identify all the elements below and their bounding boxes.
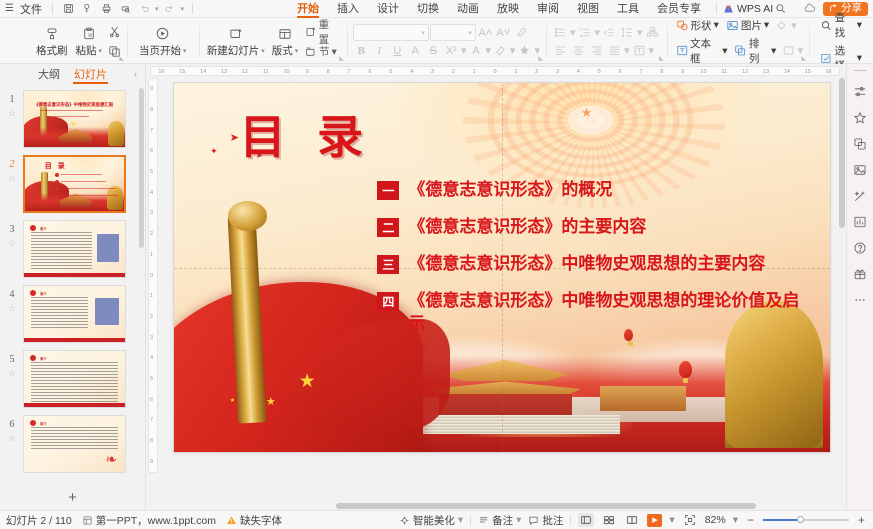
- add-slide-button[interactable]: +: [0, 484, 145, 510]
- ruler-tick-label: 1: [514, 69, 517, 75]
- thumb-title: 简介: [40, 421, 46, 426]
- navigator-tabs: 大纲 幻灯片 ‹: [0, 64, 145, 86]
- chevron-down-icon[interactable]: ▾: [570, 26, 576, 39]
- canvas-hscroll-area: [146, 501, 846, 510]
- ruler-tick-label: 12: [742, 69, 748, 75]
- image-library-icon[interactable]: [852, 161, 869, 178]
- tab-start[interactable]: 开始: [288, 0, 328, 18]
- chevron-down-icon: ▾: [771, 45, 776, 57]
- toc-text: 《德意志意识形态》中唯物史观思想的主要内容: [408, 253, 765, 276]
- slide-thumbnail-6[interactable]: 简介 ❧: [23, 415, 126, 473]
- navigator-scrollbar[interactable]: [139, 88, 144, 248]
- arrange-label: 排列: [749, 36, 769, 66]
- play-icon[interactable]: ▶: [647, 514, 662, 527]
- chevron-down-icon: ▾: [516, 514, 521, 526]
- ruler-tick-label: 3: [431, 69, 434, 75]
- notes-icon: [478, 515, 489, 526]
- print-search-icon[interactable]: [118, 1, 133, 16]
- new-slide-button[interactable]: 新建幻灯片▾: [204, 20, 268, 63]
- superscript-button[interactable]: X²: [443, 42, 460, 59]
- source-text: 第一PPT，www.1ppt.com: [96, 513, 216, 528]
- forbidden-city-gate: [430, 360, 581, 423]
- tab-design[interactable]: 设计: [368, 0, 408, 18]
- thumb-title: 简介: [40, 226, 46, 231]
- template-source[interactable]: 第一PPT，www.1ppt.com: [82, 513, 216, 528]
- bold-button[interactable]: B: [353, 42, 370, 59]
- toc-item-3[interactable]: 三 《德意志意识形态》中唯物史观思想的主要内容: [377, 253, 810, 276]
- format-painter-button[interactable]: 格式刷: [32, 20, 72, 63]
- ruler-tick-label: 2: [150, 231, 153, 237]
- chevron-left-icon[interactable]: ‹: [134, 69, 137, 79]
- gift-icon[interactable]: [852, 265, 869, 282]
- ruler-tick-label: 15: [805, 69, 811, 75]
- strikethrough-button[interactable]: S: [425, 42, 442, 59]
- redo-dropdown-icon[interactable]: ▾: [180, 5, 184, 13]
- tab-animation[interactable]: 动画: [448, 0, 488, 18]
- slide-thumbnail-3[interactable]: 简介: [23, 220, 126, 278]
- smartart-icon[interactable]: [644, 24, 661, 41]
- view-normal-icon[interactable]: [578, 513, 594, 527]
- slides-dialog-launcher[interactable]: ◣: [339, 55, 344, 62]
- gold-star-large: ★: [299, 370, 316, 393]
- comment-icon: [528, 515, 539, 526]
- ruler-tick-label: 5: [598, 69, 601, 75]
- warning-icon: [226, 515, 237, 526]
- redo-icon[interactable]: [162, 1, 177, 16]
- tab-slideshow[interactable]: 放映: [488, 0, 528, 18]
- list-item[interactable]: 5 ☆ 简介: [4, 350, 137, 408]
- help-icon[interactable]: [852, 239, 869, 256]
- ruler-tick-label: 2: [150, 314, 153, 320]
- favorites-icon[interactable]: ☆: [8, 368, 16, 379]
- ribbon-group-font: ▾ ▾ A˄ A˅ B I U A S X²: [347, 20, 546, 63]
- align-left-icon[interactable]: [552, 42, 569, 59]
- ruler-tick-label: 4: [150, 190, 153, 196]
- slide-title[interactable]: 目 录: [240, 101, 374, 167]
- slide-number: 2: [10, 159, 15, 170]
- editor-area: 1615141312111098765432101234567891011121…: [146, 64, 846, 510]
- red-balloon: [679, 361, 692, 378]
- chevron-down-icon: ▾: [857, 19, 862, 31]
- ribbon-tabs: 开始 插入 设计 切换 动画 放映 审阅 视图 工具 会员专享 WPS AI: [288, 0, 788, 18]
- main-area: 大纲 幻灯片 ‹ 1 ☆: [0, 64, 873, 510]
- thumbnail-art: 简介: [24, 221, 125, 277]
- vertical-ruler-track: 9876543210123456789: [148, 78, 158, 473]
- wps-ai-button[interactable]: WPS AI: [723, 3, 773, 15]
- ribbon-group-clipboard: 格式刷 粘贴▾: [0, 20, 127, 63]
- chevron-down-icon: ▾: [183, 47, 187, 55]
- bullet-list-icon[interactable]: [552, 24, 569, 41]
- format-painter-label: 格式刷: [36, 43, 68, 58]
- divider: [52, 3, 53, 14]
- smart-beautify-label: 智能美化: [413, 513, 455, 528]
- right-tool-rail: [846, 64, 873, 510]
- ruler-tick-label: 7: [150, 128, 153, 134]
- slide-thumbnail-1[interactable]: 《德意志意识形态》中唯物史观思想汇报 ★: [23, 90, 126, 148]
- toc-item-2[interactable]: 二 《德意志意识形态》的主要内容: [377, 216, 810, 239]
- horizontal-ruler-track: 1615141312111098765432101234567891011121…: [150, 66, 840, 76]
- text-shadow-button[interactable]: A: [407, 42, 424, 59]
- outline-icon[interactable]: [780, 42, 796, 59]
- list-item[interactable]: 1 ☆ 《德意志意识形态》中唯物史观思想汇报: [4, 90, 137, 148]
- align-justify-icon[interactable]: [606, 42, 623, 59]
- canvas-wrap: 9876543210123456789 ★: [146, 76, 846, 501]
- slide-thumbnail-5[interactable]: 简介: [23, 350, 126, 408]
- chevron-down-icon[interactable]: ▾: [461, 44, 467, 57]
- file-menu-button[interactable]: 文件: [18, 1, 44, 17]
- thumb-meta: 4 ☆: [4, 285, 20, 314]
- font-dialog-launcher[interactable]: ◣: [538, 55, 543, 62]
- slide-navigator-panel: 大纲 幻灯片 ‹ 1 ☆: [0, 64, 146, 510]
- list-item[interactable]: 6 ☆ 简介 ❧: [4, 415, 137, 473]
- ruler-tick-label: 6: [619, 69, 622, 75]
- ruler-tick-label: 2: [452, 69, 455, 75]
- start-from-current-button[interactable]: 当页开始▾: [135, 20, 191, 63]
- shape-label: 形状: [691, 18, 712, 33]
- ruler-tick-label: 9: [150, 459, 153, 465]
- gold-star-medium: ★: [266, 395, 276, 408]
- chevron-down-icon: ▾: [714, 19, 719, 31]
- divider: [570, 515, 571, 526]
- hamburger-icon[interactable]: ☰: [5, 3, 14, 14]
- chevron-down-icon: ▾: [421, 29, 425, 37]
- ribbon-toolbar: 格式刷 粘贴▾: [0, 18, 873, 64]
- decrease-font-size-icon[interactable]: A˅: [495, 24, 512, 41]
- ruler-tick-label: 16: [158, 69, 164, 75]
- ribbon-group-paragraph: ▾ ▾ ▾: [546, 20, 667, 63]
- zoom-slider[interactable]: [763, 519, 849, 521]
- ruler-tick-label: 4: [577, 69, 580, 75]
- thumbnail-art: 目 录: [25, 157, 124, 211]
- fit-screen-icon[interactable]: [682, 513, 698, 527]
- font-size-select[interactable]: ▾: [430, 24, 476, 41]
- save-icon[interactable]: [61, 1, 76, 16]
- chevron-down-icon[interactable]: ▾: [624, 44, 630, 57]
- font-row-top: ▾ ▾ A˄ A˅: [353, 24, 540, 41]
- ribbon-group-present: 当页开始▾: [127, 20, 199, 63]
- clipboard-dialog-launcher[interactable]: ◣: [119, 55, 124, 62]
- comments-button[interactable]: 批注: [528, 513, 563, 528]
- search-icon[interactable]: [773, 1, 788, 16]
- slide-thumbnail-2[interactable]: 目 录: [23, 155, 126, 213]
- canvas-scrollbar-horizontal[interactable]: [336, 503, 756, 509]
- thumb-title: 简介: [40, 356, 46, 361]
- list-item[interactable]: 2 ☆ 目 录: [4, 155, 137, 213]
- thumb-meta: 1 ☆: [4, 90, 20, 119]
- chevron-down-icon[interactable]: ▾: [485, 44, 491, 57]
- tab-member[interactable]: 会员专享: [648, 0, 710, 18]
- chevron-down-icon[interactable]: ▾: [595, 26, 601, 39]
- chevron-down-icon[interactable]: ▾: [791, 19, 797, 32]
- underline-button[interactable]: U: [389, 42, 406, 59]
- thumb-title: 《德意志意识形态》中唯物史观思想汇报: [34, 102, 113, 108]
- missing-font-label: 缺失字体: [240, 513, 282, 528]
- ruler-tick-label: 8: [660, 69, 663, 75]
- textbox-label: 文本框: [690, 36, 720, 66]
- toc-number: 三: [377, 255, 399, 274]
- ribbon-group-insert: 形状 ▾ 图片 ▾ ▾: [667, 20, 810, 63]
- editing-controls: 查找 ▾ 选择 ▾: [817, 20, 865, 63]
- shape-library-icon[interactable]: [852, 135, 869, 152]
- quick-access-toolbar: ☰ 文件: [0, 1, 197, 17]
- ruler-tick-label: 15: [179, 69, 185, 75]
- ruler-tick-label: 0: [493, 69, 496, 75]
- more-icon[interactable]: [852, 291, 869, 308]
- ribbon-group-slides: 新建幻灯片▾ 版式▾ 重置: [199, 20, 347, 63]
- ruler-tick-label: 14: [200, 69, 206, 75]
- picture-button[interactable]: 图片 ▾: [723, 17, 772, 34]
- properties-icon[interactable]: [852, 83, 869, 100]
- ruler-tick-label: 7: [348, 69, 351, 75]
- thumb-meta: 2 ☆: [4, 155, 20, 184]
- toc-list[interactable]: 一 《德意志意识形态》的概况 二 《德意志意识形态》的主要内容 三 《德意志意识…: [377, 179, 810, 336]
- chevron-down-icon: ▾: [99, 47, 103, 55]
- start-from-current-label: 当页开始▾: [139, 43, 187, 58]
- play-circle-icon: [155, 25, 170, 42]
- section-button[interactable]: 节 ▾: [302, 44, 340, 59]
- zoom-in-button[interactable]: +: [856, 513, 867, 527]
- cut-icon[interactable]: [106, 23, 123, 40]
- editing-row-top: 查找 ▾: [817, 9, 865, 41]
- ribbon-group-editing: 查找 ▾ 选择 ▾: [809, 20, 873, 63]
- picture-label: 图片: [741, 18, 762, 33]
- increase-font-size-icon[interactable]: A˄: [477, 24, 494, 41]
- toc-text: 《德意志意识形态》的概况: [408, 179, 612, 202]
- ruler-tick-label: 2: [535, 69, 538, 75]
- chevron-down-icon: ▾: [331, 46, 336, 58]
- insert-row-top: 形状 ▾ 图片 ▾ ▾: [673, 17, 804, 34]
- ruler-tick-label: 9: [681, 69, 684, 75]
- textbox-button[interactable]: 文本框 ▾: [673, 35, 731, 67]
- current-slide[interactable]: ★ ★ ★: [174, 83, 830, 452]
- slide-thumbnail-4[interactable]: 简介: [23, 285, 126, 343]
- gold-star-tiny: ★: [230, 397, 235, 404]
- ruler-tick-label: 11: [263, 69, 269, 75]
- slide-number: 3: [10, 224, 15, 235]
- ruler-tick-label: 16: [826, 69, 832, 75]
- align-right-icon[interactable]: [588, 42, 605, 59]
- missing-font-warning[interactable]: 缺失字体: [226, 513, 282, 528]
- ruler-tick-label: 5: [389, 69, 392, 75]
- tab-review[interactable]: 审阅: [528, 0, 568, 18]
- tab-transition[interactable]: 切换: [408, 0, 448, 18]
- new-slide-label: 新建幻灯片▾: [207, 43, 265, 58]
- ruler-tick-label: 1: [473, 69, 476, 75]
- tab-tools[interactable]: 工具: [608, 0, 648, 18]
- find-label: 查找: [835, 10, 855, 40]
- thumb-meta: 6 ☆: [4, 415, 20, 444]
- numbered-list-icon[interactable]: [577, 24, 594, 41]
- view-reading-icon[interactable]: [624, 513, 640, 527]
- ruler-tick-label: 13: [763, 69, 769, 75]
- undo-dropdown-icon[interactable]: ▾: [155, 5, 159, 13]
- ruler-tick-label: 8: [150, 107, 153, 113]
- cloud-icon[interactable]: [802, 1, 817, 16]
- text-effect-icon[interactable]: [516, 42, 533, 59]
- ruler-tick-label: 4: [410, 69, 413, 75]
- ruler-tick-label: 5: [150, 169, 153, 175]
- paste-button[interactable]: 粘贴▾: [72, 20, 107, 63]
- canvas-scrollbar-vertical[interactable]: [839, 78, 845, 228]
- ruler-tick-label: 3: [556, 69, 559, 75]
- list-item[interactable]: 4 ☆ 简介: [4, 285, 137, 343]
- view-sorter-icon[interactable]: [601, 513, 617, 527]
- toc-text: 《德意志意识形态》的主要内容: [408, 216, 646, 239]
- zoom-out-button[interactable]: −: [745, 513, 756, 527]
- favorites-icon[interactable]: ☆: [8, 433, 16, 444]
- slide-number: 4: [10, 289, 15, 300]
- layout-button[interactable]: 版式▾: [268, 20, 302, 63]
- ruler-tick-label: 10: [283, 69, 289, 75]
- toc-text: 《德意志意识形态》中唯物史观思想的理论价值及启示: [408, 290, 810, 336]
- chevron-down-icon: ▾: [857, 52, 862, 64]
- highlight-icon[interactable]: [492, 42, 509, 59]
- ruler-tick-label: 6: [150, 148, 153, 154]
- undo-icon[interactable]: [137, 1, 152, 16]
- status-right: 智能美化 ▾ 备注 ▾ 批注: [399, 513, 873, 528]
- vertical-ruler[interactable]: 9876543210123456789: [146, 76, 158, 501]
- paragraph-dialog-launcher[interactable]: ◣: [659, 55, 664, 62]
- thumb-title: 简介: [40, 291, 46, 296]
- favorites-icon[interactable]: [852, 109, 869, 126]
- ruler-tick-label: 12: [242, 69, 248, 75]
- paragraph-row-bottom: ▾ ▾: [552, 42, 661, 59]
- beautify-icon[interactable]: [852, 187, 869, 204]
- thumbnail-art: 简介 ❧: [24, 416, 125, 472]
- palace-wing-right: [600, 386, 685, 412]
- font-family-select[interactable]: ▾: [353, 24, 429, 41]
- favorites-icon[interactable]: ☆: [8, 173, 16, 184]
- chevron-down-icon: ▾: [468, 29, 472, 37]
- chevron-down-icon: ▾: [458, 514, 463, 526]
- paste-label: 粘贴▾: [76, 43, 103, 58]
- gold-column-top: [228, 201, 267, 231]
- tab-outline[interactable]: 大纲: [37, 66, 61, 85]
- list-item[interactable]: 3 ☆ 简介: [4, 220, 137, 278]
- line-spacing-icon[interactable]: [619, 24, 636, 41]
- tab-view[interactable]: 视图: [568, 0, 608, 18]
- new-slide-icon: [229, 25, 243, 42]
- notes-label: 备注: [492, 513, 513, 528]
- slide-number: 1: [10, 94, 15, 105]
- wps-ai-logo-icon: [723, 4, 734, 14]
- chevron-down-icon[interactable]: ▾: [669, 514, 674, 526]
- chevron-down-icon: ▾: [295, 47, 299, 55]
- chevron-down-icon[interactable]: ▾: [637, 26, 643, 39]
- tab-insert[interactable]: 插入: [328, 0, 368, 18]
- status-bar: 幻灯片 2 / 110 第一PPT，www.1ppt.com 缺失字体 智能美化: [0, 510, 873, 529]
- zoom-slider-knob[interactable]: [797, 516, 804, 523]
- insert-row-bottom: 文本框 ▾ 排列 ▾ ▾: [673, 35, 804, 67]
- thumbnail-list[interactable]: 1 ☆ 《德意志意识形态》中唯物史观思想汇报: [0, 86, 145, 484]
- wps-presentation-window: ☰ 文件: [0, 0, 873, 529]
- ruler-tick-label: 10: [700, 69, 706, 75]
- chevron-down-icon[interactable]: ▾: [733, 514, 738, 526]
- find-button[interactable]: 查找 ▾: [817, 9, 865, 41]
- ruler-tick-label: 14: [784, 69, 790, 75]
- slide-canvas[interactable]: ★ ★ ★: [158, 76, 846, 501]
- magic-icon: [399, 515, 410, 526]
- ruler-tick-label: 8: [150, 438, 153, 444]
- ruler-tick-label: 3: [150, 210, 153, 216]
- zoom-slider-track: [763, 519, 849, 521]
- insert-controls: 形状 ▾ 图片 ▾ ▾: [673, 20, 804, 63]
- status-left: 幻灯片 2 / 110 第一PPT，www.1ppt.com 缺失字体: [0, 513, 282, 528]
- insert-dialog-launcher[interactable]: ◣: [802, 55, 807, 62]
- ruler-tick-label: 13: [221, 69, 227, 75]
- format-painter-icon: [45, 25, 59, 42]
- chart-icon[interactable]: [852, 213, 869, 230]
- layout-label: 版式▾: [272, 43, 299, 58]
- font-controls: ▾ ▾ A˄ A˅ B I U A S X²: [353, 20, 540, 63]
- ruler-tick-label: 6: [368, 69, 371, 75]
- divider: [470, 515, 471, 526]
- chevron-down-icon: ▾: [722, 45, 727, 57]
- favorites-icon[interactable]: ☆: [8, 238, 16, 249]
- font-color-icon[interactable]: A: [467, 42, 484, 59]
- decrease-indent-icon[interactable]: [601, 24, 618, 41]
- chevron-down-icon: ▾: [764, 19, 769, 31]
- ruler-tick-label: 0: [150, 273, 153, 279]
- chevron-down-icon[interactable]: ▾: [510, 44, 516, 57]
- toc-item-4[interactable]: 四 《德意志意识形态》中唯物史观思想的理论价值及启示: [377, 290, 810, 336]
- layout-icon: [278, 25, 292, 42]
- ruler-tick-label: 11: [721, 69, 727, 75]
- wps-ai-label: WPS AI: [737, 3, 773, 15]
- zoom-slider-fill: [763, 519, 797, 521]
- slides-small-buttons: 重置 节 ▾: [302, 20, 342, 63]
- italic-button[interactable]: I: [371, 42, 388, 59]
- section-label: 节: [319, 44, 330, 59]
- ruler-tick-label: 9: [306, 69, 309, 75]
- print-icon[interactable]: [99, 1, 114, 16]
- toc-number: 一: [377, 181, 399, 200]
- favorites-icon[interactable]: ☆: [8, 303, 16, 314]
- thumb-title: 目 录: [45, 161, 67, 171]
- paste-icon: [82, 25, 96, 42]
- arrange-button[interactable]: 排列 ▾: [731, 35, 779, 67]
- horizontal-ruler[interactable]: 1615141312111098765432101234567891011121…: [146, 64, 846, 76]
- fill-icon[interactable]: [773, 17, 790, 34]
- rail-divider: [854, 70, 867, 71]
- favorites-icon[interactable]: ☆: [8, 108, 16, 119]
- ruler-tick-label: 8: [327, 69, 330, 75]
- bird-icon: ✦: [210, 146, 218, 157]
- slide-count-label: 幻灯片 2 / 110: [6, 513, 72, 528]
- ruler-tick-label: 7: [150, 417, 153, 423]
- align-center-icon[interactable]: [570, 42, 587, 59]
- notes-button[interactable]: 备注 ▾: [478, 513, 521, 528]
- text-direction-icon[interactable]: [631, 42, 648, 59]
- smart-beautify-button[interactable]: 智能美化 ▾: [399, 513, 463, 528]
- ruler-tick-label: 3: [150, 335, 153, 341]
- clear-formatting-icon[interactable]: [513, 24, 530, 41]
- chevron-down-icon: ▾: [261, 47, 265, 55]
- print-preview-icon[interactable]: [80, 1, 95, 16]
- shape-button[interactable]: 形状 ▾: [673, 17, 722, 34]
- thumbnail-art: 简介: [24, 286, 125, 342]
- toc-item-1[interactable]: 一 《德意志意识形态》的概况: [377, 179, 810, 202]
- divider: [716, 3, 717, 14]
- slide-number: 6: [10, 419, 15, 430]
- thumb-meta: 5 ☆: [4, 350, 20, 379]
- thumbnail-art: 《德意志意识形态》中唯物史观思想汇报 ★: [24, 91, 125, 147]
- title-bar: ☰ 文件: [0, 0, 873, 18]
- tab-slides[interactable]: 幻灯片: [73, 66, 108, 85]
- divider: [192, 3, 193, 14]
- chevron-down-icon[interactable]: ▾: [649, 44, 655, 57]
- ruler-tick-label: 5: [150, 376, 153, 382]
